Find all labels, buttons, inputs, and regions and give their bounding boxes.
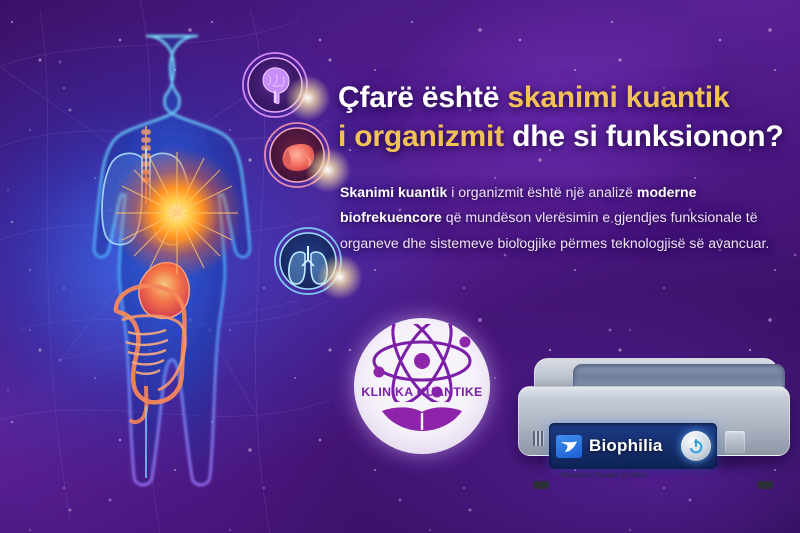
brain-badge-sparkle (285, 75, 331, 121)
body-bold-1: Skanimi kuantik (340, 184, 447, 200)
device-body: Biophilia Biophilia Tracker X5 Ultra (518, 386, 790, 456)
power-button[interactable] (681, 431, 711, 461)
headline-part-2: dhe si funksionon? (504, 120, 784, 153)
device-model-label: Biophilia Tracker X5 Ultra (561, 472, 647, 479)
power-icon (688, 438, 704, 454)
clinic-logo[interactable]: KLINIKA KUANTIKE (348, 312, 496, 460)
page-title: Çfarë është skanimi kuantik i organizmit… (338, 78, 784, 156)
device-foot-left (533, 481, 549, 489)
organ-badge-liver[interactable] (261, 119, 333, 191)
organ-badge-brain[interactable] (239, 49, 311, 121)
headline-highlight-2: i organizmit (338, 120, 504, 153)
logo-brand-text: KLINIKA KUANTIKE (348, 385, 496, 399)
device-vent (533, 431, 544, 446)
device-brand-name: Biophilia (589, 436, 663, 456)
body-text-1: i organizmit është një analizë (447, 184, 637, 200)
biophilia-device[interactable]: Biophilia Biophilia Tracker X5 Ultra (512, 358, 792, 468)
open-book-icon (380, 404, 464, 434)
headline-highlight-1: skanimi kuantik (507, 81, 729, 114)
headline-part-1: Çfarë është (338, 81, 507, 114)
device-foot-right (757, 481, 773, 489)
body-paragraph: Skanimi kuantik i organizmit është një a… (340, 180, 788, 256)
poster-canvas: Çfarë është skanimi kuantik i organizmit… (0, 0, 800, 533)
headline-line-1: Çfarë është skanimi kuantik (338, 78, 784, 117)
organ-badge-lungs[interactable] (271, 224, 345, 298)
lungs-badge-sparkle (317, 254, 363, 300)
headline-line-2: i organizmit dhe si funksionon? (338, 117, 784, 156)
biophilia-bird-icon (556, 435, 582, 458)
device-side-button[interactable] (725, 431, 745, 453)
